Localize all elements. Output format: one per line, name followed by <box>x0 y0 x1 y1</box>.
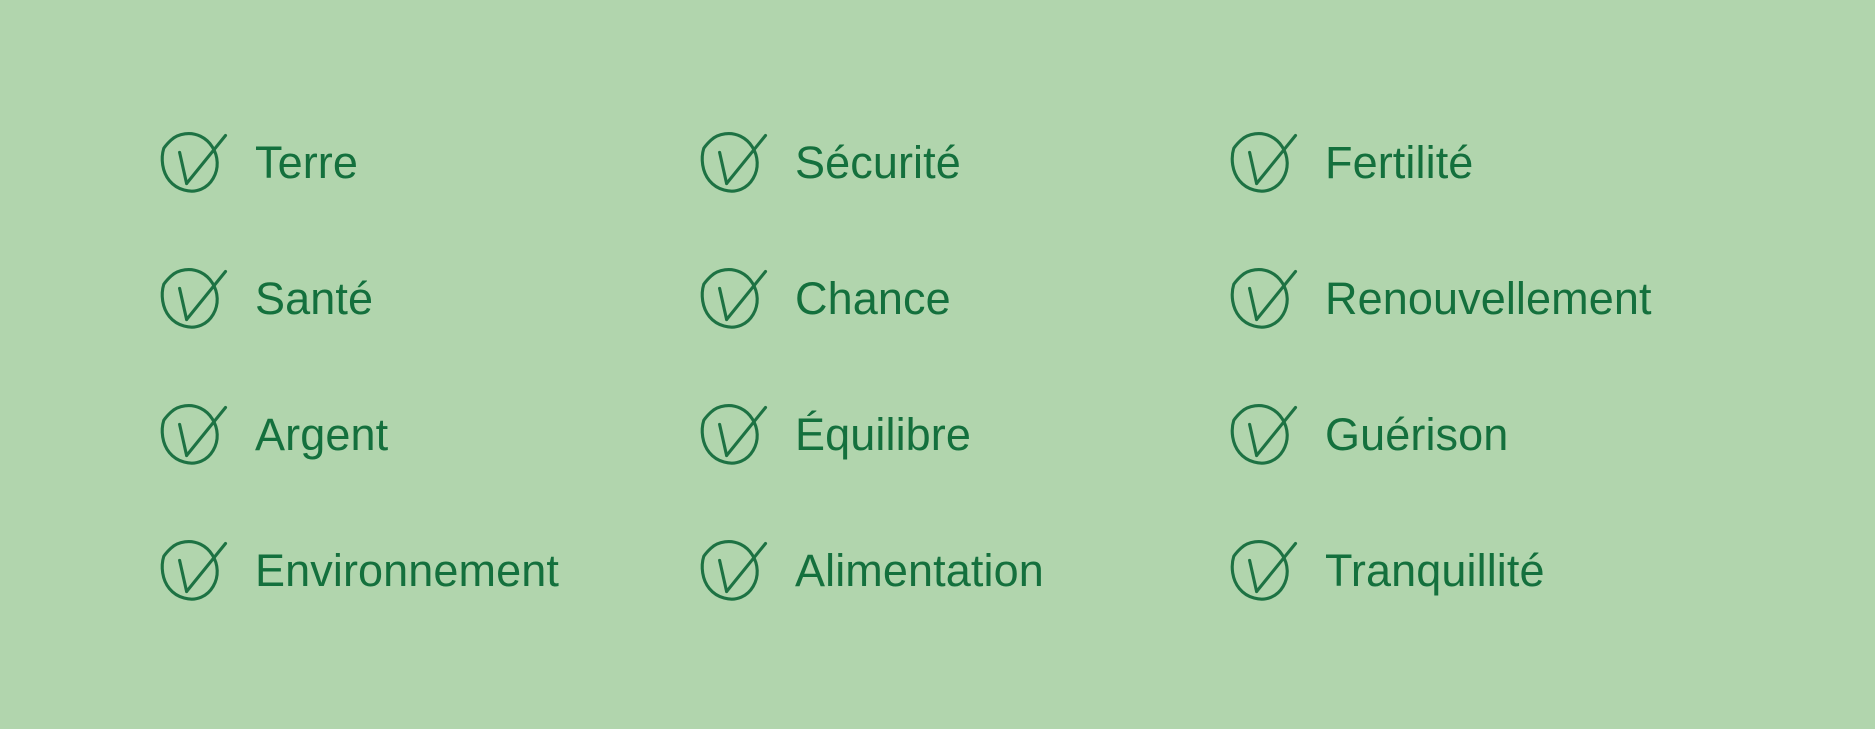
circled-check-icon <box>695 263 773 335</box>
list-item-label: Alimentation <box>795 547 1044 594</box>
list-item: Équilibre <box>695 367 1225 503</box>
list-item-label: Fertilité <box>1325 139 1473 186</box>
circled-check-icon <box>1225 127 1303 199</box>
list-item-label: Chance <box>795 275 951 322</box>
list-item: Santé <box>155 231 695 367</box>
list-item: Argent <box>155 367 695 503</box>
list-item-label: Tranquillité <box>1325 547 1545 594</box>
list-item: Guérison <box>1225 367 1795 503</box>
list-item-label: Renouvellement <box>1325 275 1652 322</box>
circled-check-icon <box>155 399 233 471</box>
circled-check-icon <box>1225 399 1303 471</box>
list-item: Terre <box>155 95 695 231</box>
circled-check-icon <box>695 535 773 607</box>
list-item-label: Guérison <box>1325 411 1508 458</box>
circled-check-icon <box>1225 263 1303 335</box>
list-item: Alimentation <box>695 503 1225 639</box>
circled-check-icon <box>155 127 233 199</box>
circled-check-icon <box>695 127 773 199</box>
list-item: Sécurité <box>695 95 1225 231</box>
list-item-label: Équilibre <box>795 411 971 458</box>
circled-check-icon <box>695 399 773 471</box>
circled-check-icon <box>1225 535 1303 607</box>
list-item: Tranquillité <box>1225 503 1795 639</box>
list-item: Renouvellement <box>1225 231 1795 367</box>
circled-check-icon <box>155 263 233 335</box>
list-item: Fertilité <box>1225 95 1795 231</box>
list-item: Chance <box>695 231 1225 367</box>
list-item-label: Terre <box>255 139 358 186</box>
list-item-label: Santé <box>255 275 373 322</box>
circled-check-icon <box>155 535 233 607</box>
list-item-label: Argent <box>255 411 388 458</box>
list-item: Environnement <box>155 503 695 639</box>
list-item-label: Sécurité <box>795 139 961 186</box>
benefits-board: Terre Sécurité Fertilité <box>0 0 1875 729</box>
benefits-grid: Terre Sécurité Fertilité <box>155 95 1795 615</box>
list-item-label: Environnement <box>255 547 559 594</box>
